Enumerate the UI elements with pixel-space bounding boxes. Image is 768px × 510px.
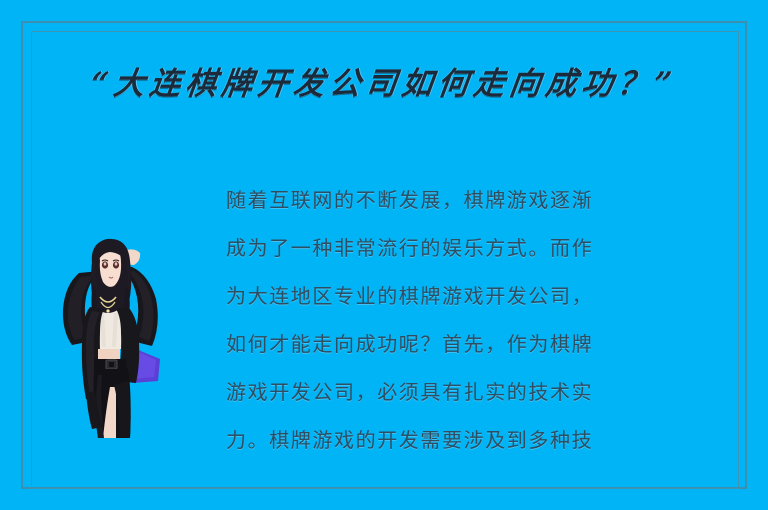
character-illustration [48,233,164,438]
character-illustration-graphic [48,233,164,438]
body-line: 随着互联网的不断发展，棋牌游戏逐渐 [226,176,718,224]
body-line: 为大连地区专业的棋牌游戏开发公司， [226,272,718,320]
poster-canvas: “大连棋牌开发公司如何走向成功？” [0,0,768,510]
body-line: 力。棋牌游戏的开发需要涉及到多种技 [226,416,718,464]
body-line: 如何才能走向成功呢？首先，作为棋牌 [226,320,718,368]
body-line: 游戏开发公司，必须具有扎实的技术实 [226,368,718,416]
page-title: “大连棋牌开发公司如何走向成功？” [0,58,768,103]
body-line: 成为了一种非常流行的娱乐方式。而作 [226,224,718,272]
article-body: 随着互联网的不断发展，棋牌游戏逐渐 成为了一种非常流行的娱乐方式。而作 为大连地… [226,176,718,466]
